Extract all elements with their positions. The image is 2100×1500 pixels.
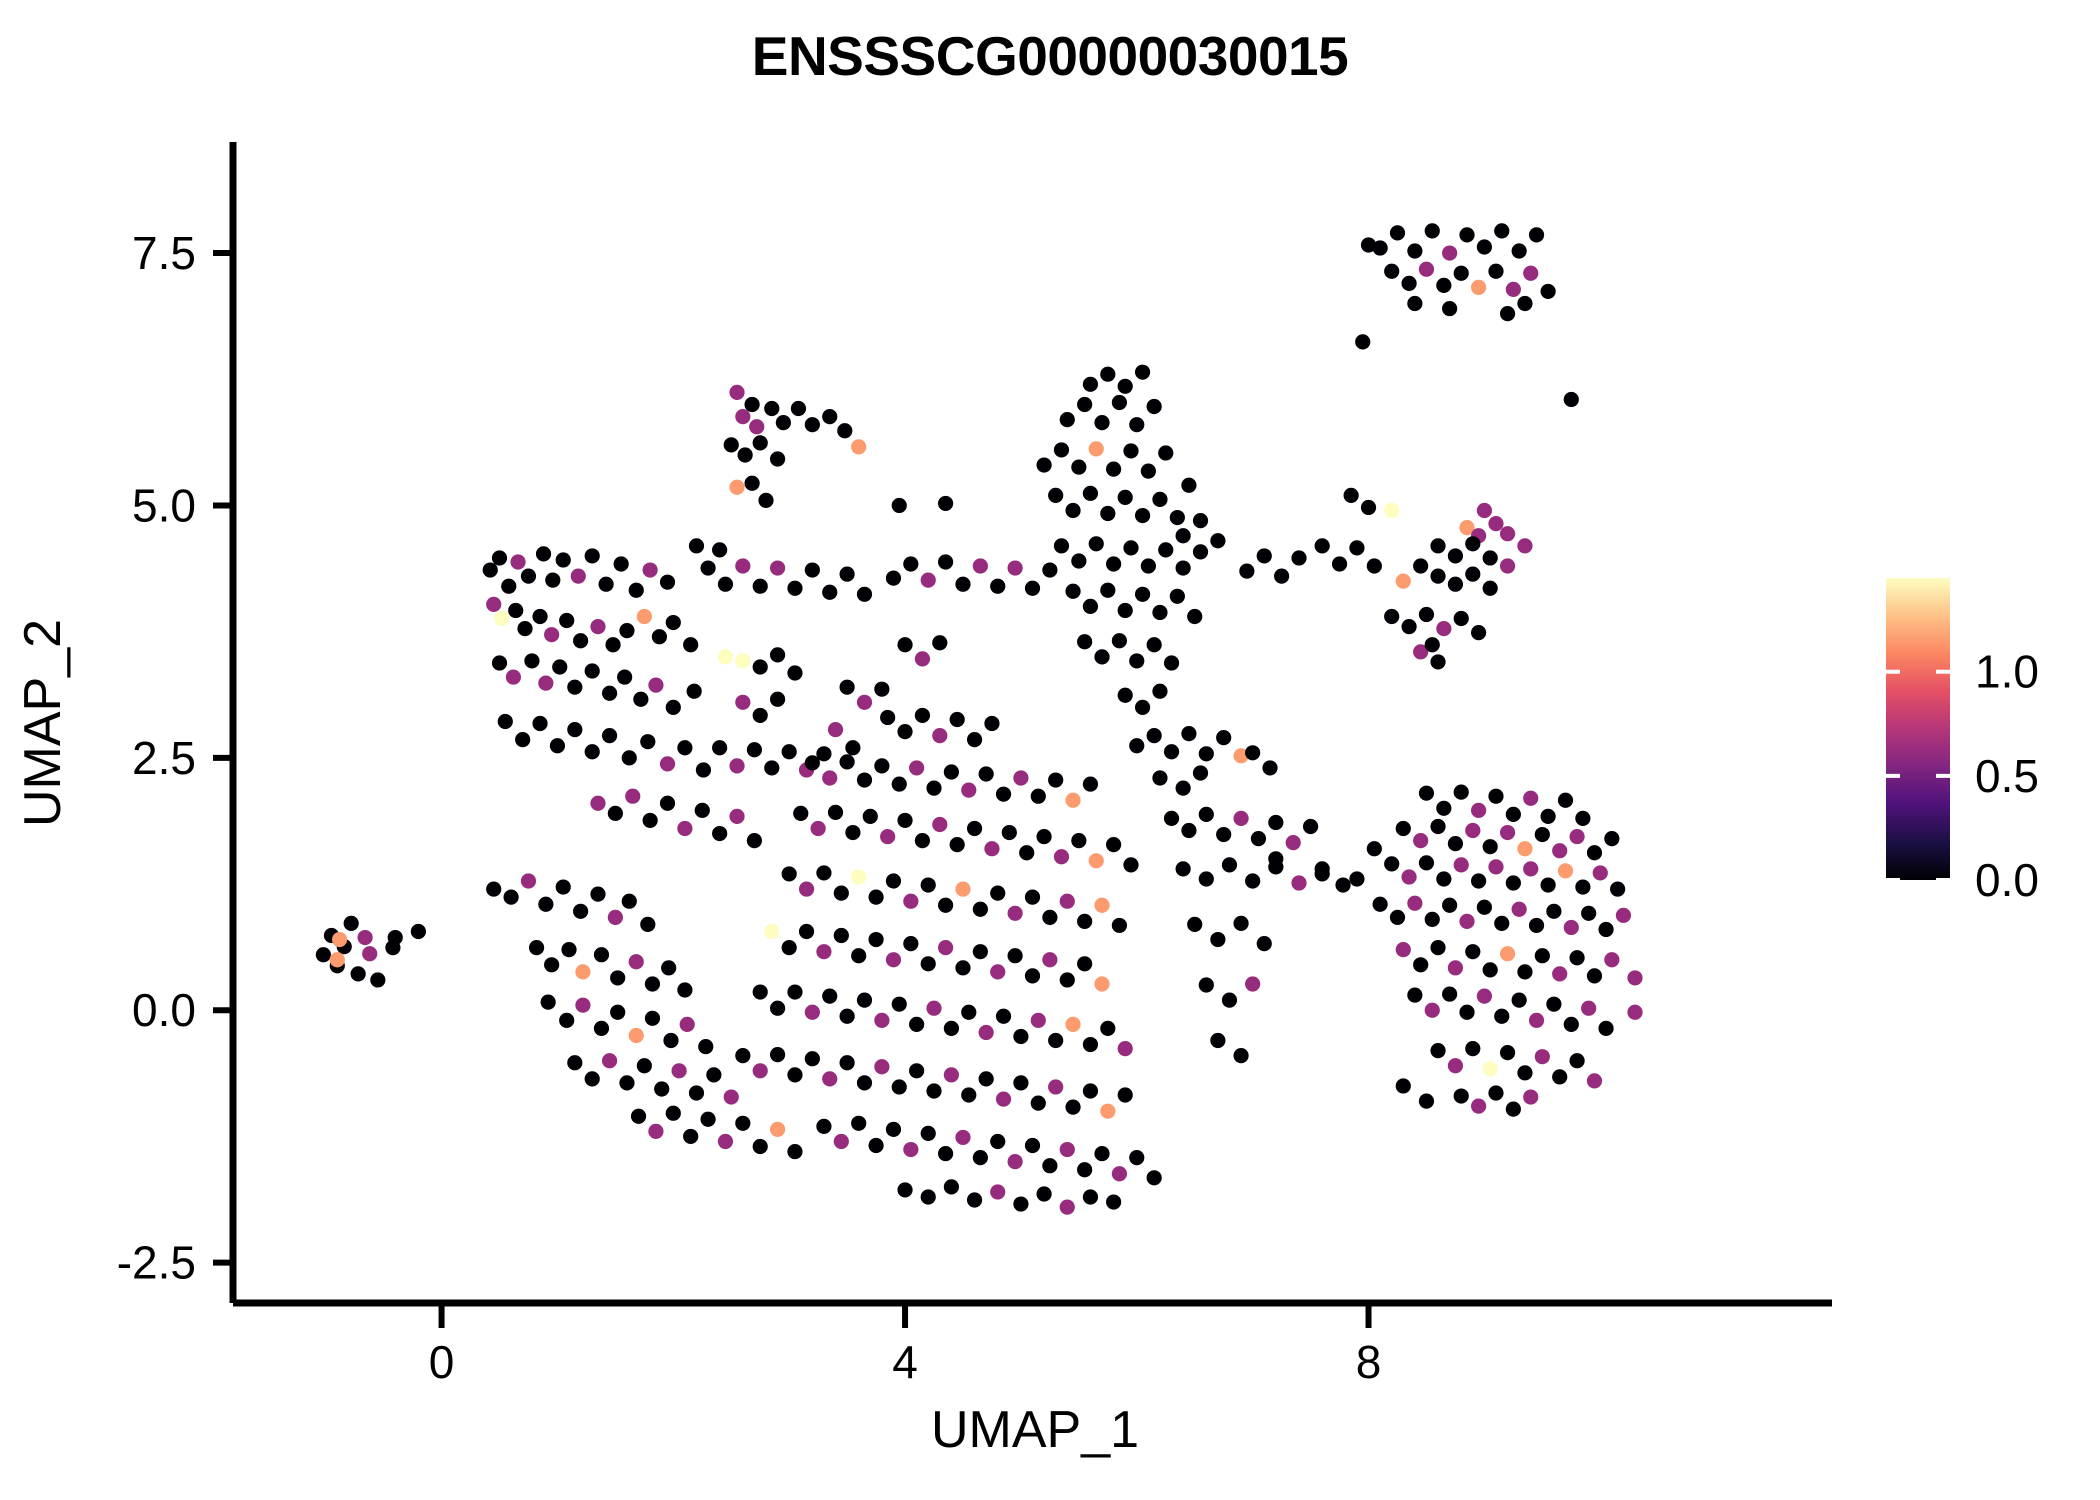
data-point: [897, 724, 912, 739]
data-point: [961, 783, 976, 798]
data-point: [1471, 280, 1486, 295]
data-point: [529, 940, 544, 955]
data-point: [724, 1089, 739, 1104]
data-point: [1065, 1017, 1080, 1032]
data-point: [1199, 807, 1214, 822]
data-point: [1303, 819, 1318, 834]
data-point: [1401, 619, 1416, 634]
data-point: [1036, 457, 1051, 472]
data-point: [1152, 492, 1167, 507]
data-point: [556, 879, 571, 894]
data-point: [834, 1134, 849, 1149]
data-point: [687, 684, 702, 699]
data-point: [805, 417, 820, 432]
data-point: [1454, 857, 1469, 872]
colorbar-tick-label: 0.5: [1975, 750, 2039, 802]
data-point: [1581, 906, 1596, 921]
data-point: [1106, 462, 1121, 477]
data-point: [950, 837, 965, 852]
data-point: [1384, 264, 1399, 279]
data-point: [892, 498, 907, 513]
data-point: [629, 1028, 644, 1043]
data-point: [712, 826, 727, 841]
data-point: [938, 554, 953, 569]
data-point: [698, 1039, 713, 1054]
data-point: [944, 764, 959, 779]
data-point: [1077, 634, 1092, 649]
data-point: [1471, 1099, 1486, 1114]
data-point: [1089, 536, 1104, 551]
data-point: [573, 904, 588, 919]
data-point: [1048, 1033, 1063, 1048]
data-point: [1147, 637, 1162, 652]
data-point: [1118, 1041, 1133, 1056]
data-point: [1465, 944, 1480, 959]
data-point: [689, 538, 704, 553]
data-point: [1506, 282, 1521, 297]
data-point: [868, 932, 883, 947]
data-point: [1135, 587, 1150, 602]
data-point: [1129, 738, 1144, 753]
data-point: [1436, 801, 1451, 816]
data-point: [932, 817, 947, 832]
data-point: [660, 796, 675, 811]
data-point: [1065, 793, 1080, 808]
data-point: [1575, 879, 1590, 894]
data-point: [1118, 490, 1133, 505]
data-point: [1523, 1089, 1538, 1104]
data-point: [1517, 538, 1532, 553]
data-point: [1512, 993, 1527, 1008]
data-point: [1512, 243, 1527, 258]
data-point: [770, 451, 785, 466]
data-point: [1541, 284, 1556, 299]
data-point: [1569, 829, 1584, 844]
x-tick-label: 4: [892, 1336, 918, 1388]
data-point: [654, 1081, 669, 1096]
data-point: [637, 609, 652, 624]
data-point: [1361, 500, 1376, 515]
data-point: [585, 548, 600, 563]
data-point: [1199, 871, 1214, 886]
data-point: [1170, 510, 1185, 525]
data-point: [1025, 581, 1040, 596]
y-tick-label: 0.0: [132, 984, 196, 1036]
data-point: [567, 722, 582, 737]
data-point: [1407, 243, 1422, 258]
data-point: [532, 609, 547, 624]
data-point: [729, 809, 744, 824]
data-point: [984, 841, 999, 856]
data-point: [1396, 821, 1411, 836]
data-point: [1245, 976, 1260, 991]
data-point: [1454, 1088, 1469, 1103]
data-point: [1529, 1013, 1544, 1028]
data-point: [1031, 1013, 1046, 1028]
data-point: [648, 678, 663, 693]
data-point: [1552, 966, 1567, 981]
data-point: [1089, 441, 1104, 456]
data-point: [1448, 960, 1463, 975]
y-tick-label: 7.5: [132, 227, 196, 279]
data-point: [1135, 508, 1150, 523]
data-point: [944, 1067, 959, 1082]
data-point: [816, 1119, 831, 1134]
data-point: [787, 581, 802, 596]
data-point: [735, 1116, 750, 1131]
data-point: [492, 550, 507, 565]
data-point: [1396, 1078, 1411, 1093]
data-point: [608, 910, 623, 925]
data-point: [738, 447, 753, 462]
data-point: [1500, 526, 1515, 541]
data-point: [1042, 562, 1057, 577]
data-point: [1025, 1138, 1040, 1153]
data-point: [556, 552, 571, 567]
data-point: [619, 1075, 634, 1090]
data-point: [561, 942, 576, 957]
data-point: [724, 437, 739, 452]
data-point: [1123, 540, 1138, 555]
data-point: [1013, 1196, 1028, 1211]
data-point: [845, 740, 860, 755]
data-point: [1425, 1003, 1440, 1018]
data-point: [770, 1047, 785, 1062]
data-point: [868, 1138, 883, 1153]
data-point: [1541, 809, 1556, 824]
data-point: [1176, 781, 1191, 796]
data-point: [1506, 875, 1521, 890]
data-point: [1065, 584, 1080, 599]
data-point: [1598, 922, 1613, 937]
data-point: [1100, 583, 1115, 598]
data-point: [1483, 962, 1498, 977]
data-point: [735, 1048, 750, 1063]
data-point: [1465, 823, 1480, 838]
data-point: [1517, 841, 1532, 856]
data-point: [874, 758, 889, 773]
data-point: [718, 577, 733, 592]
data-point: [892, 776, 907, 791]
scatter-plot-svg: -2.50.02.55.07.5 048 UMAP_1 UMAP_2 0.00.…: [0, 0, 2100, 1500]
data-point: [1419, 786, 1434, 801]
data-point: [660, 756, 675, 771]
data-point: [1529, 918, 1544, 933]
data-point: [1083, 1037, 1098, 1052]
data-point: [1176, 861, 1191, 876]
data-point: [729, 758, 744, 773]
data-point: [521, 569, 536, 584]
data-point: [712, 542, 727, 557]
data-point: [921, 1189, 936, 1204]
colorbar-tick-label: 0.0: [1975, 854, 2039, 906]
data-point: [1430, 569, 1445, 584]
data-point: [1512, 902, 1527, 917]
data-point: [1541, 877, 1556, 892]
data-point: [677, 821, 692, 836]
data-point: [1036, 1186, 1051, 1201]
data-point: [1535, 948, 1550, 963]
data-point: [1147, 728, 1162, 743]
data-point: [840, 1055, 855, 1070]
data-point: [805, 562, 820, 577]
data-point: [1564, 920, 1579, 935]
data-point: [1459, 1005, 1474, 1020]
data-point: [1176, 528, 1191, 543]
data-point: [1442, 986, 1457, 1001]
data-point: [1546, 904, 1561, 919]
data-point: [799, 881, 814, 896]
data-point: [926, 1001, 941, 1016]
data-point: [1407, 896, 1422, 911]
data-point: [1123, 857, 1138, 872]
data-point: [1488, 859, 1503, 874]
data-point: [886, 952, 901, 967]
data-point: [1002, 825, 1017, 840]
data-point: [973, 558, 988, 573]
data-point: [344, 916, 359, 931]
data-point: [1112, 918, 1127, 933]
data-point: [1390, 910, 1405, 925]
data-point: [1094, 649, 1109, 664]
data-point: [619, 623, 634, 638]
data-point: [706, 1067, 721, 1082]
data-point: [729, 480, 744, 495]
data-point: [605, 637, 620, 652]
data-point: [1523, 266, 1538, 281]
data-point: [944, 1179, 959, 1194]
data-point: [1483, 1061, 1498, 1076]
data-point: [880, 710, 895, 725]
data-point: [590, 619, 605, 634]
data-point: [1564, 392, 1579, 407]
data-point: [787, 665, 802, 680]
data-point: [585, 663, 600, 678]
data-point: [666, 700, 681, 715]
data-point: [1477, 988, 1492, 1003]
data-point: [1158, 445, 1173, 460]
data-point: [1373, 897, 1388, 912]
data-point: [932, 728, 947, 743]
data-point: [1233, 916, 1248, 931]
data-point: [874, 1059, 889, 1074]
data-point: [1193, 765, 1208, 780]
data-point: [915, 833, 930, 848]
data-point: [645, 1011, 660, 1026]
data-point: [1494, 223, 1509, 238]
data-point: [1141, 558, 1156, 573]
colorbar-tick-labels: 0.00.51.0: [1975, 646, 2039, 906]
data-point: [1396, 574, 1411, 589]
data-point: [1448, 548, 1463, 563]
data-point: [517, 621, 532, 636]
data-point: [1193, 544, 1208, 559]
colorbar-gradient: [1886, 578, 1950, 880]
data-point: [1019, 845, 1034, 860]
data-point: [1448, 1058, 1463, 1073]
data-point: [863, 809, 878, 824]
data-point: [1517, 296, 1532, 311]
data-point: [590, 887, 605, 902]
data-point: [1112, 1166, 1127, 1181]
y-axis-title: UMAP_2: [14, 619, 72, 827]
data-point: [718, 1134, 733, 1149]
data-point: [1367, 841, 1382, 856]
data-point: [575, 964, 590, 979]
data-point: [617, 669, 632, 684]
data-point: [1465, 536, 1480, 551]
data-point: [1112, 633, 1127, 648]
data-point: [822, 988, 837, 1003]
data-point: [770, 692, 785, 707]
data-point: [749, 419, 764, 434]
data-point: [1488, 789, 1503, 804]
data-point: [330, 952, 345, 967]
data-point: [1471, 625, 1486, 640]
data-point: [799, 924, 814, 939]
data-point: [1335, 877, 1350, 892]
data-point: [1042, 910, 1057, 925]
data-point: [1135, 365, 1150, 380]
data-point: [1233, 811, 1248, 826]
data-point: [1500, 1045, 1515, 1060]
data-point: [735, 653, 750, 668]
x-axis-ticks: 048: [429, 1303, 1382, 1388]
data-point: [1158, 542, 1173, 557]
data-point: [1291, 875, 1306, 890]
data-point: [357, 930, 372, 945]
data-point: [1396, 942, 1411, 957]
data-point: [886, 873, 901, 888]
data-point: [622, 750, 637, 765]
data-point: [1013, 1029, 1028, 1044]
data-point: [1060, 1199, 1075, 1214]
data-point: [536, 546, 551, 561]
data-point: [834, 928, 849, 943]
data-point: [1257, 548, 1272, 563]
data-point: [903, 894, 918, 909]
data-point: [1587, 1073, 1602, 1088]
data-point: [851, 869, 866, 884]
data-point: [602, 1053, 617, 1068]
data-point: [550, 738, 565, 753]
data-point: [1048, 1079, 1063, 1094]
data-point: [559, 1013, 574, 1028]
x-tick-label: 8: [1356, 1336, 1382, 1388]
data-point: [822, 585, 837, 600]
data-point: [1089, 853, 1104, 868]
data-point: [1587, 968, 1602, 983]
data-point: [633, 692, 648, 707]
umap-feature-plot: ENSSSCG00000030015 -2.50.02.55.07.5 048 …: [0, 0, 2100, 1500]
data-point: [1147, 399, 1162, 414]
data-point: [1181, 478, 1196, 493]
data-point: [955, 1130, 970, 1145]
data-point: [1083, 377, 1098, 392]
data-point: [735, 409, 750, 424]
data-point: [837, 423, 852, 438]
data-point: [1506, 807, 1521, 822]
data-point: [1164, 811, 1179, 826]
data-point: [851, 439, 866, 454]
data-point: [1430, 819, 1445, 834]
data-point: [1054, 538, 1069, 553]
data-point: [1233, 1048, 1248, 1063]
data-point: [1349, 871, 1364, 886]
data-point: [1118, 603, 1133, 618]
data-point: [1454, 785, 1469, 800]
data-point: [1199, 977, 1214, 992]
data-point: [938, 898, 953, 913]
data-point: [1436, 871, 1451, 886]
data-point: [1465, 566, 1480, 581]
data-point: [1355, 334, 1370, 349]
data-point: [1517, 964, 1532, 979]
data-point: [610, 970, 625, 985]
data-point: [689, 1085, 704, 1100]
data-point: [857, 695, 872, 710]
data-point: [1593, 865, 1608, 880]
data-point: [955, 960, 970, 975]
data-point: [921, 1126, 936, 1141]
data-point: [979, 1071, 994, 1086]
data-point: [758, 493, 773, 508]
data-point: [1430, 1043, 1445, 1058]
data-point: [1100, 367, 1115, 382]
data-point: [857, 993, 872, 1008]
data-point: [753, 435, 768, 450]
data-point: [1245, 873, 1260, 888]
data-point: [541, 995, 556, 1010]
data-point: [1013, 1075, 1028, 1090]
data-point: [1430, 654, 1445, 669]
data-point: [1129, 1150, 1144, 1165]
data-point: [1500, 306, 1515, 321]
data-point: [1454, 611, 1469, 626]
data-point: [845, 825, 860, 840]
data-point: [637, 1058, 652, 1073]
data-point: [1587, 845, 1602, 860]
data-point: [1535, 1049, 1550, 1064]
data-point: [816, 944, 831, 959]
data-point: [967, 821, 982, 836]
data-point: [1361, 237, 1376, 252]
data-point: [1604, 952, 1619, 967]
data-point: [967, 732, 982, 747]
data-point: [903, 1142, 918, 1157]
data-point: [1187, 609, 1202, 624]
data-point: [1425, 637, 1440, 652]
data-point: [1448, 577, 1463, 592]
data-point: [874, 1013, 889, 1028]
data-point: [764, 924, 779, 939]
data-point: [1477, 503, 1492, 518]
data-point: [1523, 791, 1538, 806]
data-point: [996, 787, 1011, 802]
data-point: [1448, 836, 1463, 851]
data-point: [1036, 829, 1051, 844]
data-point: [1077, 914, 1092, 929]
data-point: [1065, 1100, 1080, 1115]
y-tick-label: 5.0: [132, 479, 196, 531]
data-point: [782, 940, 797, 955]
data-point: [1152, 684, 1167, 699]
data-point: [828, 722, 843, 737]
data-point: [886, 1122, 901, 1137]
data-point: [1291, 550, 1306, 565]
data-point: [683, 1129, 698, 1144]
data-point: [700, 560, 715, 575]
